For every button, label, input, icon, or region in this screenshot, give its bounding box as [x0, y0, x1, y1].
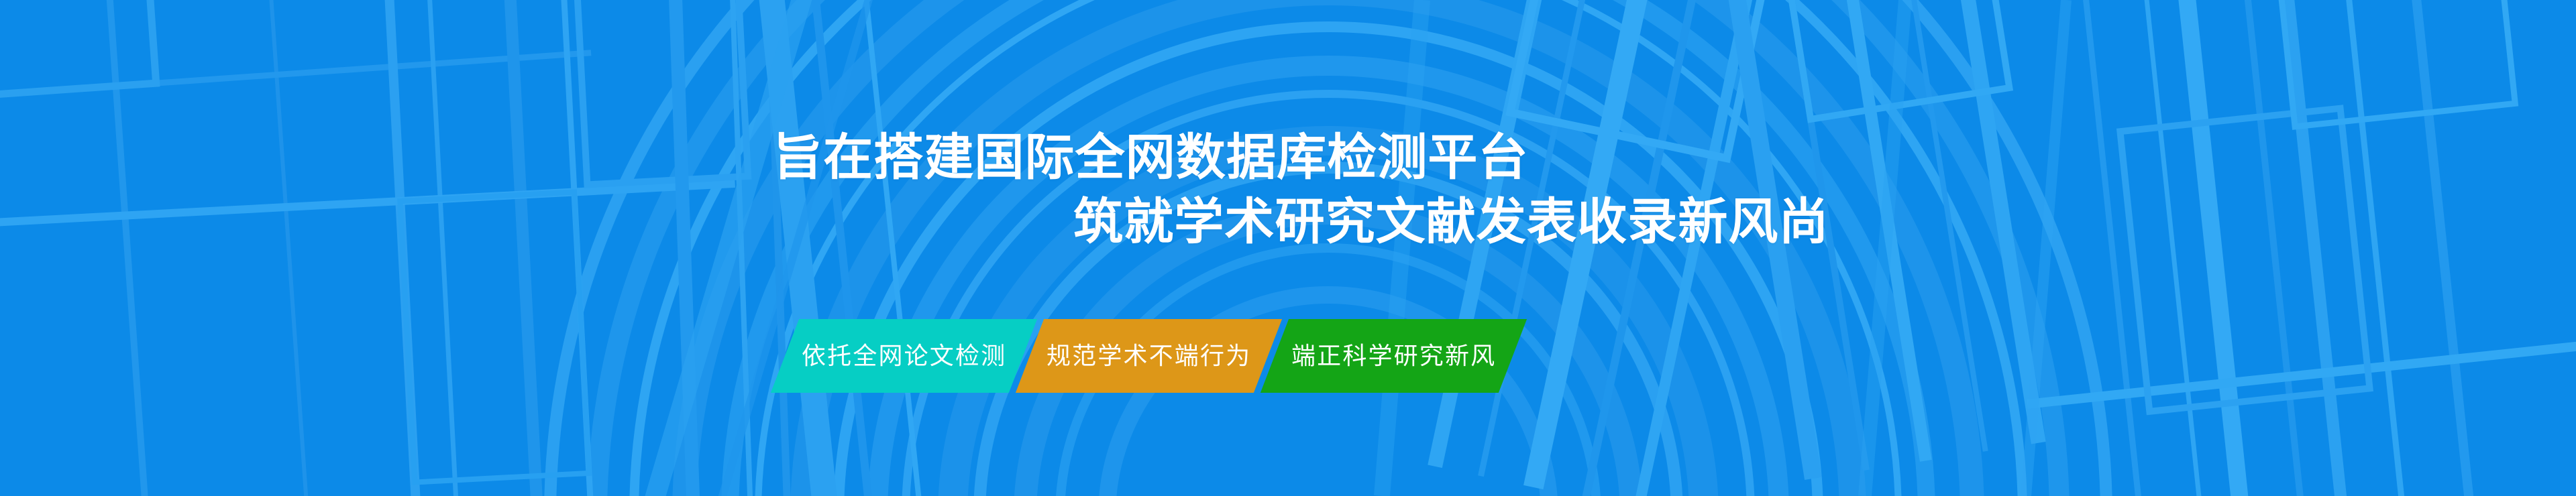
- promo-banner: 旨在搭建国际全网数据库检测平台 筑就学术研究文献发表收录新风尚 依托全网论文检测…: [0, 0, 2576, 496]
- tagline-research-ethos[interactable]: 端正科学研究新风: [1260, 319, 1527, 393]
- tagline-paper-detection-label: 依托全网论文检测: [802, 344, 1006, 368]
- tagline-bar: 依托全网论文检测 规范学术不端行为 端正科学研究新风: [785, 319, 1513, 393]
- tagline-academic-misconduct-label: 规范学术不端行为: [1046, 344, 1251, 368]
- headline-line-2: 筑就学术研究文献发表收录新风尚: [1073, 196, 1829, 248]
- headline-block: 旨在搭建国际全网数据库检测平台 筑就学术研究文献发表收录新风尚: [0, 0, 2576, 496]
- background-arcs-layer: [0, 0, 2576, 496]
- background-grid-layer: [0, 0, 2576, 496]
- tagline-academic-misconduct[interactable]: 规范学术不端行为: [1016, 319, 1282, 393]
- tagline-paper-detection[interactable]: 依托全网论文检测: [771, 319, 1037, 393]
- tagline-research-ethos-label: 端正科学研究新风: [1291, 344, 1496, 368]
- headline-line-1: 旨在搭建国际全网数据库检测平台: [773, 131, 1529, 184]
